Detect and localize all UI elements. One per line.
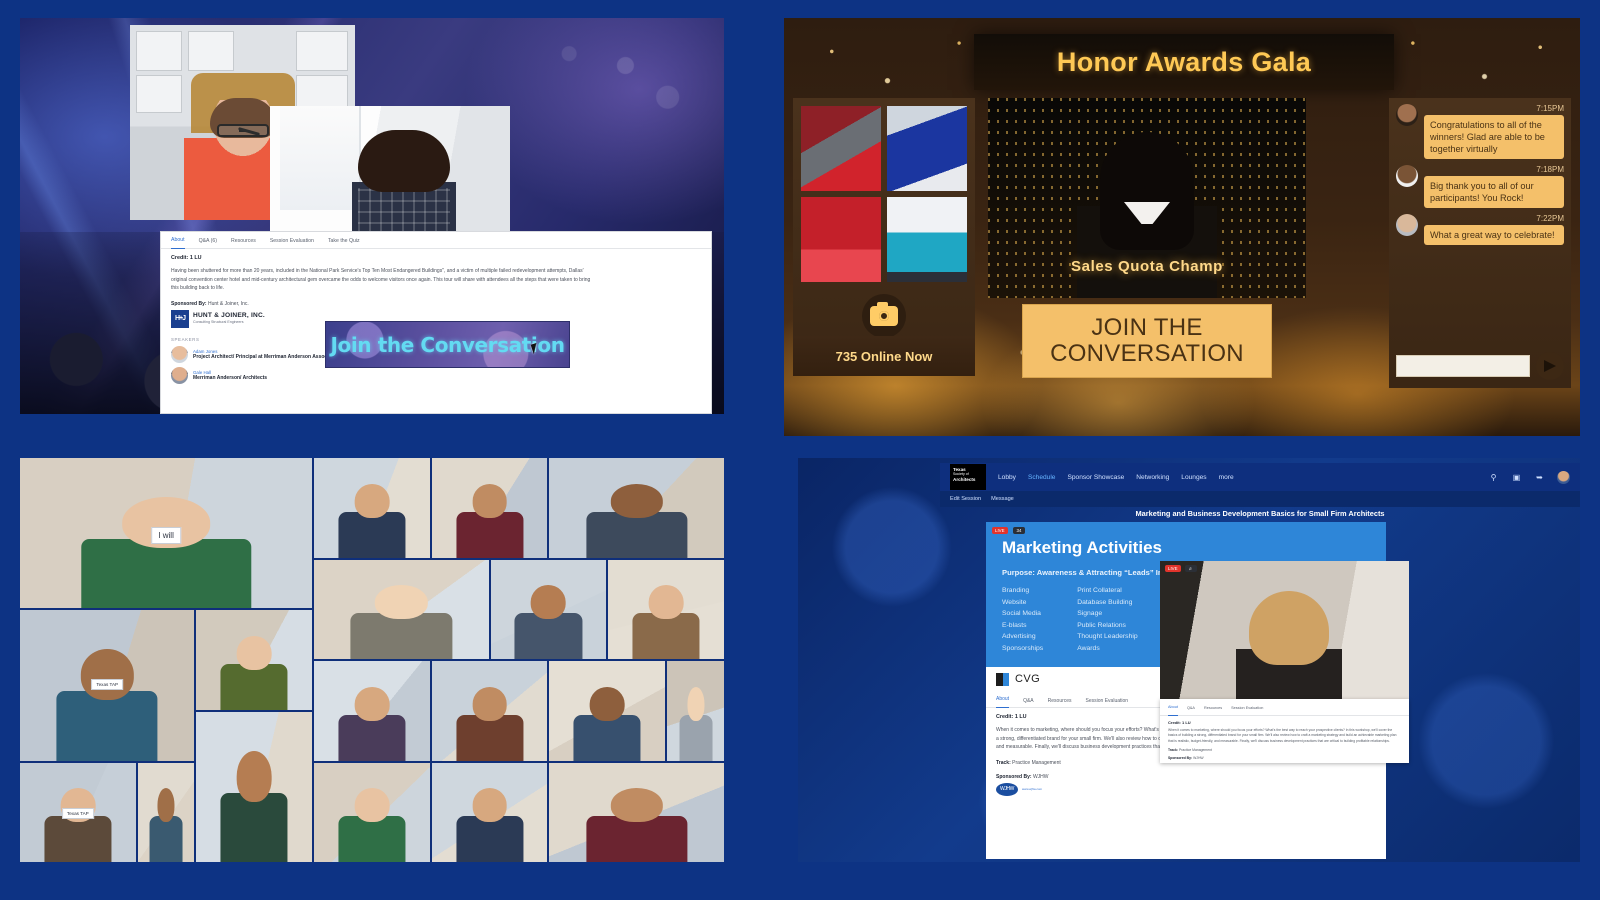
slide-item: Thought Leadership: [1077, 633, 1137, 640]
chat-timestamp: 7:18PM: [1424, 165, 1564, 174]
participant-tile[interactable]: [549, 763, 724, 863]
participant-head: [237, 751, 272, 802]
sponsor-logo-subtitle: Consulting Structural Engineers: [193, 319, 265, 326]
participant-tile[interactable]: [549, 458, 724, 558]
pip-presenter-figure: [1236, 591, 1342, 699]
tab-resources[interactable]: Resources: [1204, 703, 1222, 714]
online-count-label: 735 Online Now: [836, 349, 933, 364]
participant-head: [590, 687, 625, 721]
texas-society-of-architects-logo[interactable]: Texas Society of Architects: [950, 464, 986, 490]
participant-body: [338, 512, 405, 558]
gallery-photo[interactable]: [887, 197, 967, 282]
platform-sub-bar: Edit Session Message: [940, 491, 1580, 507]
user-avatar[interactable]: [1557, 471, 1570, 484]
search-icon[interactable]: ⚲: [1488, 472, 1499, 483]
speaker-role: Merriman Anderson/ Architects: [193, 375, 267, 381]
participant-mosaic-panel: I willTexas TAPTexas TAP: [20, 458, 724, 862]
chat-message: 7:22PM What a great way to celebrate!: [1389, 208, 1571, 245]
participant-body: [81, 539, 250, 608]
nav-item-networking[interactable]: Networking: [1136, 474, 1169, 481]
participant-head: [611, 788, 663, 822]
avatar: [171, 346, 188, 363]
participant-head: [355, 484, 390, 518]
shelf-unit: [136, 31, 182, 71]
gala-title-banner: Honor Awards Gala: [974, 34, 1394, 90]
participant-tile[interactable]: [432, 458, 548, 558]
presenter-video-tile-2[interactable]: [270, 106, 510, 246]
shelf-unit: [188, 31, 234, 71]
chat-input[interactable]: [1396, 355, 1530, 377]
participant-body: [679, 715, 712, 761]
sponsor-logo-name: HUNT & JOINER, INC.: [193, 312, 265, 319]
avatar: [1396, 165, 1418, 187]
sponsored-by-label: Sponsored By:: [171, 301, 207, 307]
slide-item: Advertising: [1002, 633, 1043, 640]
participant-head: [472, 788, 507, 822]
sponsored-by-value: WJHW: [1193, 756, 1204, 760]
slide-item: Signage: [1077, 610, 1137, 617]
held-sign: Texas TAP: [91, 679, 123, 690]
shelf-unit: [136, 75, 182, 113]
participant-head: [531, 585, 566, 619]
hunt-joiner-logo-mark: H+J: [171, 310, 189, 328]
participant-tile[interactable]: Texas TAP: [20, 763, 136, 863]
tab-about[interactable]: About: [1168, 702, 1178, 716]
participant-tile[interactable]: [432, 661, 548, 761]
participant-tile[interactable]: [196, 712, 312, 862]
participant-head: [472, 687, 507, 721]
session-description: When it comes to marketing, where should…: [1168, 728, 1401, 744]
sponsored-by-label: Sponsored By:: [1168, 756, 1192, 760]
participant-tile[interactable]: [196, 610, 312, 710]
screenshot-canvas: About Q&A (6) Resources Session Evaluati…: [0, 0, 1600, 900]
chat-timestamp: 7:15PM: [1424, 104, 1564, 113]
gala-title: Honor Awards Gala: [1057, 47, 1311, 78]
pip-status-badges: LIVE ♬: [1165, 565, 1197, 572]
microphone-icon: ♬: [1185, 565, 1197, 572]
participant-head: [472, 484, 507, 518]
window: [280, 106, 362, 210]
participant-tile[interactable]: Texas TAP: [20, 610, 194, 760]
hair: [1100, 132, 1194, 250]
participant-body: [221, 664, 288, 710]
cvg-logo-icon: [996, 673, 1009, 686]
track-label: Track:: [996, 760, 1011, 766]
gallery-photo[interactable]: [887, 106, 967, 191]
overlay-session-tabs: About Q&A Resources Session Evaluation: [1160, 699, 1409, 716]
join-the-conversation-button[interactable]: JOIN THE CONVERSATION: [1022, 304, 1272, 378]
participant-body: [574, 715, 641, 761]
speaker-row: Gale Hall Merriman Anderson/ Architects: [171, 367, 701, 384]
tab-qa[interactable]: Q&A (6): [199, 236, 217, 247]
avatar: [171, 367, 188, 384]
sponsored-by-value: WJHW: [1033, 774, 1049, 780]
wjhw-logo-mark: WJHW: [996, 783, 1018, 796]
hair: [1249, 591, 1329, 665]
participant-body: [456, 715, 523, 761]
webinar-panel: About Q&A (6) Resources Session Evaluati…: [20, 18, 724, 414]
live-badge: LIVE: [992, 527, 1008, 534]
sponsored-by-value: Hunt & Joiner, Inc.: [208, 301, 249, 307]
slide-item: Awards: [1077, 645, 1137, 652]
participant-head: [158, 788, 175, 822]
cvg-logo-name: CVG: [1015, 673, 1040, 685]
sponsored-by-line: Sponsored By: WJHW: [996, 774, 1376, 780]
tab-qa[interactable]: Q&A: [1023, 696, 1034, 707]
sponsored-by-label: Sponsored By:: [996, 774, 1032, 780]
participant-body: [57, 691, 158, 760]
share-icon[interactable]: ➥: [1534, 472, 1545, 483]
participant-head: [649, 585, 684, 619]
slide-item: Sponsorships: [1002, 645, 1043, 652]
participant-tile[interactable]: [608, 560, 724, 660]
slide-item: Print Collateral: [1077, 587, 1137, 594]
session-title: Marketing and Business Development Basic…: [940, 509, 1580, 518]
avatar: [1396, 214, 1418, 236]
participant-body: [221, 793, 288, 862]
chat-bubble: Congratulations to all of the winners! G…: [1424, 115, 1564, 159]
tab-qa[interactable]: Q&A: [1187, 703, 1195, 714]
sponsored-by-line: Sponsored By: Hunt & Joiner, Inc.: [171, 301, 701, 307]
slide-column-left: Branding Website Social Media E-blasts A…: [1002, 587, 1043, 652]
session-card-body: Credit: 1 LU Having been shuttered for m…: [161, 249, 711, 390]
overlay-session-card: About Q&A Resources Session Evaluation C…: [1160, 699, 1409, 763]
gala-chat-panel: 7:15PM Congratulations to all of the win…: [1389, 98, 1571, 388]
tab-session-evaluation[interactable]: Session Evaluation: [1231, 703, 1263, 714]
participant-tile[interactable]: [314, 661, 430, 761]
logo-line-2: Society of: [953, 472, 969, 476]
join-button-line-1: JOIN THE: [1091, 315, 1202, 341]
chat-message-body: 7:15PM Congratulations to all of the win…: [1424, 104, 1564, 159]
event-platform-panel: Texas Society of Architects Lobby Schedu…: [798, 458, 1580, 862]
send-button[interactable]: [1536, 352, 1564, 380]
speaker-info: Gale Hall Merriman Anderson/ Architects: [193, 370, 267, 381]
join-the-conversation-banner-label: Join the Conversation: [330, 333, 564, 357]
gala-panel: Honor Awards Gala 735 Online Now Sales Q: [784, 18, 1580, 436]
participant-body: [44, 816, 111, 862]
lower-third-title: Sales Quota Champ: [988, 258, 1306, 275]
overlay-card-body: Credit: 1 LU When it comes to marketing,…: [1160, 716, 1409, 763]
participant-head: [687, 687, 704, 721]
hunt-joiner-logo-text: HUNT & JOINER, INC. Consulting Structura…: [193, 312, 265, 326]
chat-message-body: 7:22PM What a great way to celebrate!: [1424, 214, 1564, 245]
tab-session-evaluation[interactable]: Session Evaluation: [1086, 696, 1129, 707]
tab-resources[interactable]: Resources: [231, 236, 256, 247]
participant-body: [150, 816, 183, 862]
participant-body: [351, 613, 452, 659]
participant-body: [586, 512, 687, 558]
participant-grid: I willTexas TAPTexas TAP: [20, 458, 724, 862]
speaker-info: Adam Jones Project Architect/ Principal …: [193, 349, 339, 360]
track-value: Practice Management: [1012, 760, 1061, 766]
slide-item: Public Relations: [1077, 622, 1137, 629]
slide-item: E-blasts: [1002, 622, 1043, 629]
photo-gallery-widget[interactable]: [793, 98, 975, 365]
tab-take-the-quiz[interactable]: Take the Quiz: [328, 236, 360, 247]
participant-head: [81, 649, 133, 700]
slide-item: Branding: [1002, 587, 1043, 594]
live-badge: LIVE: [1165, 565, 1181, 572]
participant-head: [355, 687, 390, 721]
participant-body: [338, 715, 405, 761]
participant-tile[interactable]: I will: [20, 458, 312, 608]
platform-top-nav: Texas Society of Architects Lobby Schedu…: [940, 463, 1580, 491]
chat-timestamp: 7:22PM: [1424, 214, 1564, 223]
chat-message: 7:15PM Congratulations to all of the win…: [1389, 98, 1571, 159]
participant-head: [355, 788, 390, 822]
send-paper-plane-icon: [1544, 360, 1556, 372]
avatar: [1396, 104, 1418, 126]
online-count-bar: 735 Online Now: [793, 336, 975, 376]
speaker-role: Project Architect/ Principal at Merriman…: [193, 354, 339, 360]
participant-head: [237, 636, 272, 670]
participant-head: [611, 484, 663, 518]
nav-item-sponsor-showcase[interactable]: Sponsor Showcase: [1067, 474, 1124, 481]
participant-tile[interactable]: [667, 661, 724, 761]
participant-body: [456, 816, 523, 862]
nav-item-lobby[interactable]: Lobby: [998, 474, 1016, 481]
participant-body: [586, 816, 687, 862]
sponsor-url[interactable]: www.wjhw.com: [1022, 787, 1042, 791]
held-sign: Texas TAP: [62, 808, 94, 819]
participant-body: [515, 613, 582, 659]
chat-bubble: What a great way to celebrate!: [1424, 225, 1564, 245]
wjhw-sponsor-logo: WJHW www.wjhw.com: [996, 783, 1376, 796]
camera-upload-button[interactable]: [862, 294, 906, 338]
chat-composer: [1396, 352, 1564, 380]
slide-status-badges: LIVE 34: [992, 527, 1025, 534]
participant-body: [338, 816, 405, 862]
slide-column-right: Print Collateral Database Building Signa…: [1077, 587, 1137, 652]
participant-body: [456, 512, 523, 558]
track-line: Track: Practice Management: [1168, 748, 1401, 752]
slide-item: Website: [1002, 599, 1043, 606]
track-label: Track:: [1168, 748, 1178, 752]
slide-item: Social Media: [1002, 610, 1043, 617]
credit-label: Credit: 1 LU: [171, 255, 701, 261]
held-sign: I will: [151, 527, 181, 544]
nav-item-more[interactable]: more: [1219, 474, 1234, 481]
chat-message-body: 7:18PM Big thank you to all of our parti…: [1424, 165, 1564, 208]
message-button[interactable]: Message: [991, 496, 1014, 502]
participant-tile[interactable]: [549, 661, 665, 761]
join-button-line-2: CONVERSATION: [1050, 341, 1244, 367]
slide-heading: Marketing Activities: [1002, 538, 1372, 558]
participant-body: [633, 613, 700, 659]
nav-item-lounges[interactable]: Lounges: [1181, 474, 1206, 481]
tab-resources[interactable]: Resources: [1048, 696, 1072, 707]
gallery-photo[interactable]: [801, 106, 881, 191]
camera-icon: [870, 306, 898, 326]
hair: [358, 130, 450, 192]
chat-bubble: Big thank you to all of our participants…: [1424, 176, 1564, 208]
participant-tile[interactable]: [138, 763, 195, 863]
participant-tile[interactable]: [314, 763, 430, 863]
edit-session-button[interactable]: Edit Session: [950, 496, 981, 502]
participant-tile[interactable]: [314, 458, 430, 558]
participant-head: [375, 585, 427, 619]
tab-about[interactable]: About: [996, 694, 1009, 708]
tab-session-evaluation[interactable]: Session Evaluation: [270, 236, 314, 247]
track-value: Practice Management: [1179, 748, 1212, 752]
sponsored-by-line: Sponsored By: WJHW: [1168, 756, 1401, 760]
session-tabs: About Q&A (6) Resources Session Evaluati…: [161, 232, 711, 249]
participant-tile[interactable]: [432, 763, 548, 863]
tab-about[interactable]: About: [171, 235, 185, 249]
document-icon[interactable]: ▣: [1511, 472, 1522, 483]
gallery-photo[interactable]: [801, 197, 881, 282]
viewer-count-badge: 34: [1013, 527, 1026, 534]
chat-message: 7:18PM Big thank you to all of our parti…: [1389, 159, 1571, 208]
nav-item-schedule[interactable]: Schedule: [1028, 474, 1056, 481]
photo-grid: [801, 106, 967, 282]
logo-line-3: Architects: [953, 477, 983, 482]
shelf-unit: [296, 31, 348, 71]
credit-label: Credit: 1 LU: [1168, 720, 1401, 725]
participant-tile[interactable]: [491, 560, 607, 660]
participant-tile[interactable]: [314, 560, 489, 660]
slide-item: Database Building: [1077, 599, 1137, 606]
presenter-pip-video[interactable]: LIVE ♬: [1160, 561, 1409, 699]
session-description: Having been shuttered for more than 20 y…: [171, 267, 591, 293]
